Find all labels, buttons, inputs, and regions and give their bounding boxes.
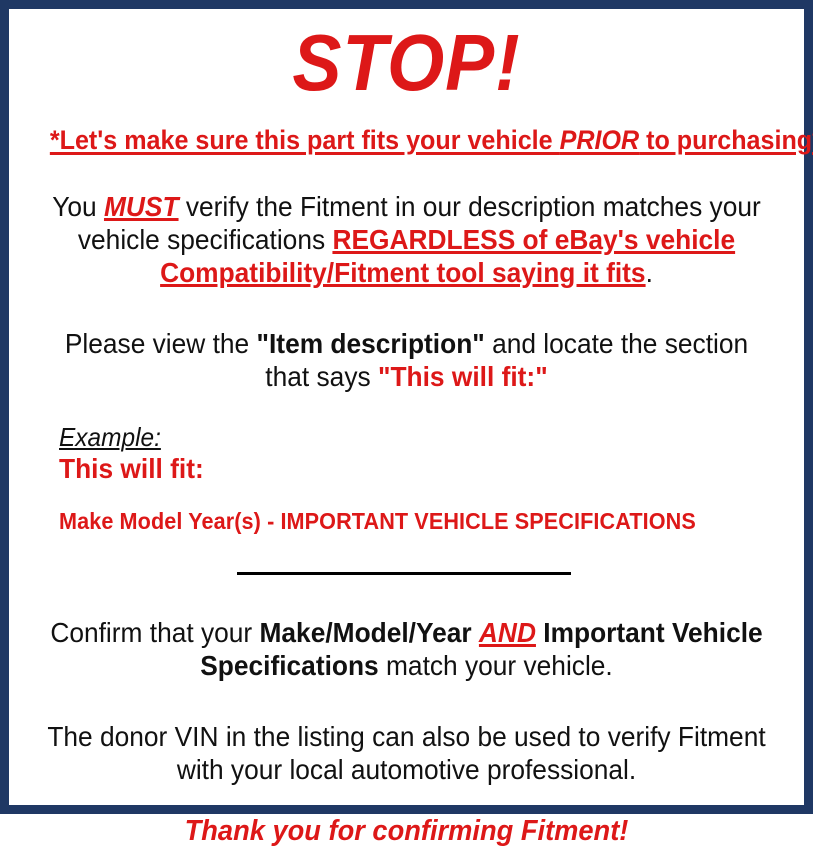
paragraph-donor-vin: The donor VIN in the listing can also be… bbox=[46, 682, 767, 786]
subheading-emphasis-prior: PRIOR bbox=[560, 125, 640, 155]
example-block: Example: This will fit: Make Model Year(… bbox=[23, 393, 790, 534]
example-spec-line: Make Model Year(s) - IMPORTANT VEHICLE S… bbox=[59, 485, 746, 534]
example-label: Example: bbox=[59, 423, 161, 452]
confirm-seg-1: Confirm that your bbox=[50, 617, 259, 648]
paragraph-item-description: Please view the "Item description" and l… bbox=[46, 289, 767, 393]
emphasis-must: MUST bbox=[104, 191, 179, 222]
subheading-prefix: *Let's make sure this part fits your veh… bbox=[50, 125, 560, 155]
page-title: STOP! bbox=[54, 9, 760, 103]
notice-content: STOP! *Let's make sure this part fits yo… bbox=[9, 9, 804, 805]
divider-wrapper bbox=[23, 534, 790, 580]
paragraph-confirm: Confirm that your Make/Model/Year AND Im… bbox=[46, 580, 767, 682]
example-fits-header: This will fit: bbox=[59, 452, 746, 485]
closing-thanks-line: Thank you for confirming Fitment! bbox=[46, 786, 767, 848]
subheading: *Let's make sure this part fits your veh… bbox=[50, 103, 763, 156]
confirm-seg-2: match your vehicle. bbox=[379, 650, 613, 681]
subheading-suffix: to purchasing* bbox=[639, 125, 813, 155]
confirm-space-1 bbox=[472, 617, 479, 648]
emphasis-make-model-year: Make/Model/Year bbox=[259, 617, 471, 648]
confirm-space-2 bbox=[536, 617, 543, 648]
horizontal-rule bbox=[237, 572, 571, 575]
itemdesc-seg-1: Please view the bbox=[65, 328, 257, 359]
emphasis-item-description: "Item description" bbox=[257, 328, 485, 359]
paragraph-must-verify: You MUST verify the Fitment in our descr… bbox=[46, 156, 767, 289]
must-seg-1: You bbox=[52, 191, 104, 222]
emphasis-and: AND bbox=[479, 617, 536, 648]
fitment-notice-card: STOP! *Let's make sure this part fits yo… bbox=[0, 0, 813, 814]
emphasis-this-will-fit: "This will fit:" bbox=[378, 361, 548, 392]
must-seg-3: . bbox=[646, 257, 653, 288]
